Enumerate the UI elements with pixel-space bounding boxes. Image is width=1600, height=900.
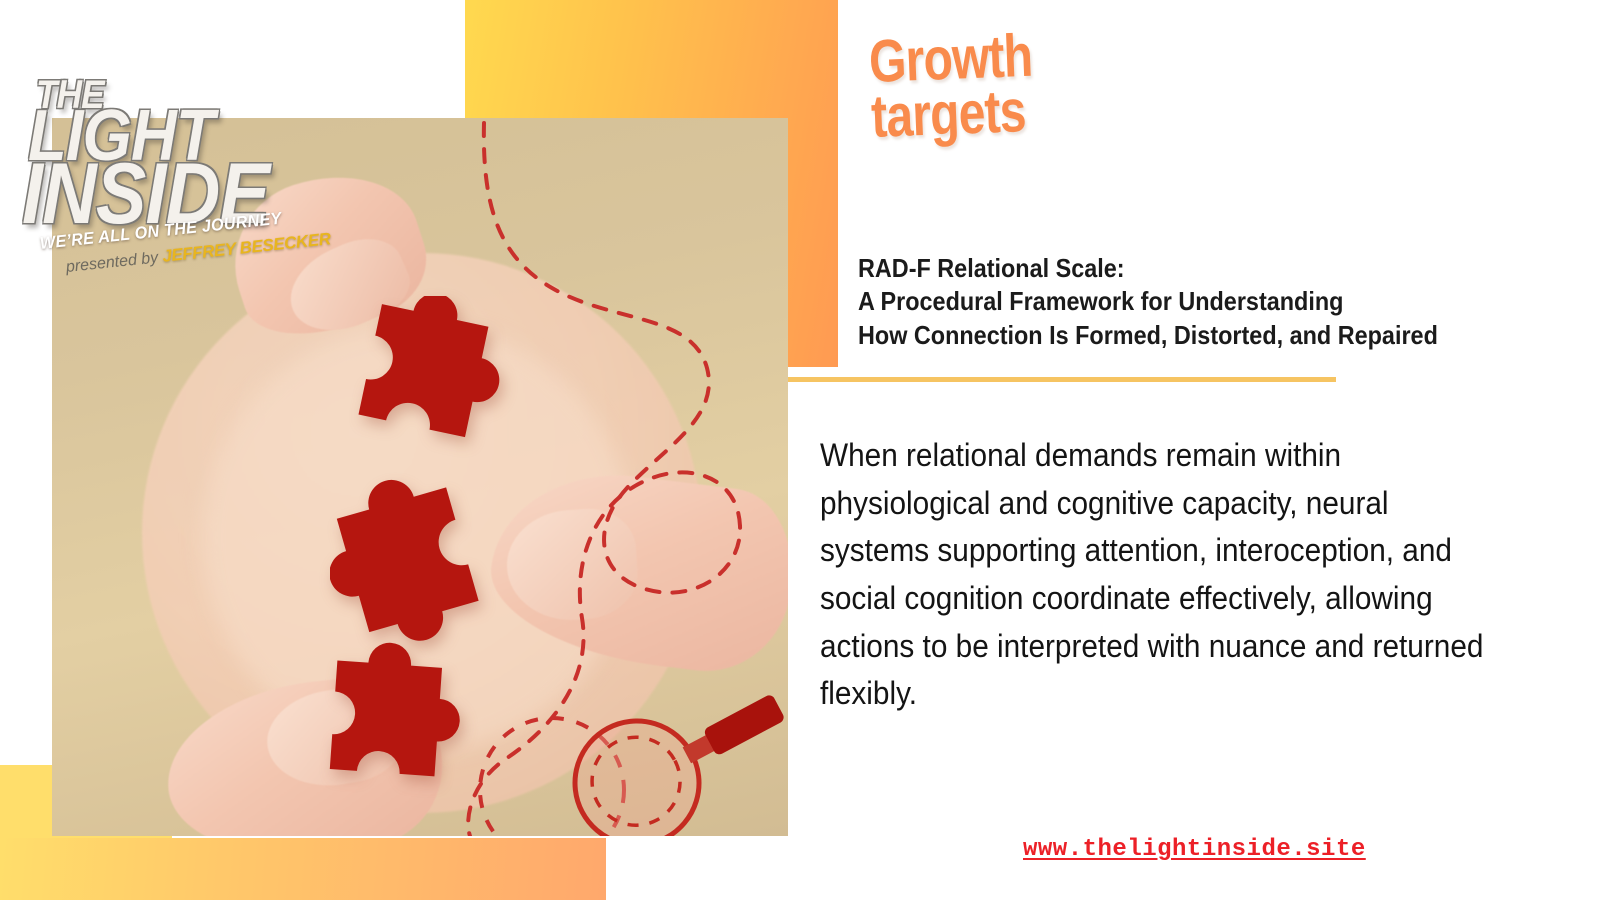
magnifying-glass-graphic — [542, 693, 788, 836]
slide-subtitle: RAD-F Relational Scale: A Procedural Fra… — [858, 252, 1438, 352]
website-link[interactable]: www.thelightinside.site — [1023, 836, 1366, 863]
content-column: Growth targets RAD-F Relational Scale: A… — [838, 0, 1600, 900]
puzzle-piece-bottom — [310, 638, 495, 823]
logo-line-the: THE — [36, 78, 289, 112]
bottom-gradient-bar — [0, 838, 606, 900]
section-divider — [788, 377, 1336, 382]
puzzle-piece-top — [352, 296, 532, 476]
cover-photo — [52, 118, 788, 836]
puzzle-piece-middle — [330, 470, 525, 665]
slide-body-text: When relational demands remain within ph… — [820, 432, 1490, 718]
slide-title: Growth targets — [868, 28, 1035, 145]
